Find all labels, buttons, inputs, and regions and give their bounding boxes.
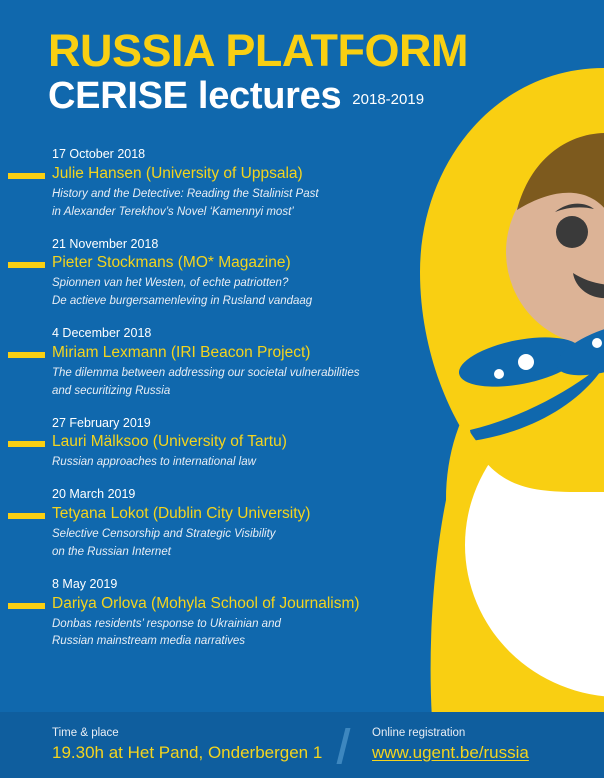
doll-face xyxy=(506,158,604,346)
poster-footer: Time & place 19.30h at Het Pand, Onderbe… xyxy=(0,712,604,778)
lecture-description-line: The dilemma between addressing our socie… xyxy=(52,365,420,383)
lecture-description-line: and securitizing Russia xyxy=(52,383,420,401)
leaf-stem xyxy=(470,360,604,441)
lecture-description-line: De actieve burgersamenleving in Rusland … xyxy=(52,293,420,311)
doll-eyebrow xyxy=(555,204,594,212)
leaf-shape xyxy=(455,329,585,396)
doll-apron xyxy=(465,393,604,697)
subtitle-row: CERISE lectures 2018-2019 xyxy=(48,77,468,115)
lecture-description: Donbas residents’ response to Ukrainian … xyxy=(52,616,420,652)
lecture-date: 8 May 2019 xyxy=(52,576,420,593)
lecture-description-line: History and the Detective: Reading the S… xyxy=(52,186,420,204)
lecture-description: History and the Detective: Reading the S… xyxy=(52,186,420,222)
lecture-speaker: Miriam Lexmann (IRI Beacon Project) xyxy=(52,342,310,364)
lecture-list: 17 October 2018 Julie Hansen (University… xyxy=(0,146,420,665)
lecture-speaker: Pieter Stockmans (MO* Magazine) xyxy=(52,252,291,274)
lecture-description: Selective Censorship and Strategic Visib… xyxy=(52,526,420,562)
dash-marker-icon xyxy=(8,262,45,268)
lecture-description-line: Donbas residents’ response to Ukrainian … xyxy=(52,616,420,634)
lecture-speaker-row: Pieter Stockmans (MO* Magazine) xyxy=(0,252,420,274)
time-place-block: Time & place 19.30h at Het Pand, Onderbe… xyxy=(52,726,322,765)
dash-marker-icon xyxy=(8,441,45,447)
lecture-description: The dilemma between addressing our socie… xyxy=(52,365,420,401)
time-place-label: Time & place xyxy=(52,726,322,741)
lecture-item: 21 November 2018 Pieter Stockmans (MO* M… xyxy=(0,236,420,312)
lecture-description-line: Selective Censorship and Strategic Visib… xyxy=(52,526,420,544)
lecture-item: 4 December 2018 Miriam Lexmann (IRI Beac… xyxy=(0,325,420,401)
dash-marker-icon xyxy=(8,352,45,358)
lecture-date: 20 March 2019 xyxy=(52,486,420,503)
doll-eye xyxy=(556,216,588,248)
divider-slash-icon xyxy=(337,728,351,764)
registration-block: Online registration www.ugent.be/russia xyxy=(372,726,529,765)
lecture-date: 27 February 2019 xyxy=(52,415,420,432)
lecture-speaker-row: Lauri Mälksoo (University of Tartu) xyxy=(0,431,420,453)
lecture-description: Russian approaches to international law xyxy=(52,454,420,472)
poster-root: RUSSIA PLATFORM CERISE lectures 2018-201… xyxy=(0,0,604,778)
registration-label: Online registration xyxy=(372,726,529,741)
lecture-item: 8 May 2019 Dariya Orlova (Mohyla School … xyxy=(0,576,420,652)
lecture-description-line: Russian approaches to international law xyxy=(52,454,420,472)
lecture-speaker: Dariya Orlova (Mohyla School of Journali… xyxy=(52,593,360,615)
time-place-value: 19.30h at Het Pand, Onderbergen 1 xyxy=(52,742,322,765)
lecture-speaker: Julie Hansen (University of Uppsala) xyxy=(52,163,303,185)
lecture-date: 4 December 2018 xyxy=(52,325,420,342)
white-dot xyxy=(494,369,504,379)
lecture-date: 21 November 2018 xyxy=(52,236,420,253)
lecture-description: Spionnen van het Westen, of echte patrio… xyxy=(52,275,420,311)
lecture-description-line: in Alexander Terekhov’s Novel ‘Kamennyi … xyxy=(52,204,420,222)
doll-body xyxy=(431,312,604,778)
lecture-speaker-row: Tetyana Lokot (Dublin City University) xyxy=(0,503,420,525)
lecture-description-line: Russian mainstream media narratives xyxy=(52,633,420,651)
doll-hair xyxy=(517,133,604,210)
lecture-speaker-row: Julie Hansen (University of Uppsala) xyxy=(0,163,420,185)
poster-header: RUSSIA PLATFORM CERISE lectures 2018-201… xyxy=(48,28,468,115)
page-subtitle: CERISE lectures xyxy=(48,77,341,115)
lecture-speaker-row: Dariya Orlova (Mohyla School of Journali… xyxy=(0,593,420,615)
page-title: RUSSIA PLATFORM xyxy=(48,28,468,73)
lecture-description-line: on the Russian Internet xyxy=(52,544,420,562)
dash-marker-icon xyxy=(8,513,45,519)
lecture-speaker: Lauri Mälksoo (University of Tartu) xyxy=(52,431,287,453)
lecture-date: 17 October 2018 xyxy=(52,146,420,163)
lecture-speaker: Tetyana Lokot (Dublin City University) xyxy=(52,503,310,525)
dash-marker-icon xyxy=(8,603,45,609)
season-years: 2018-2019 xyxy=(352,91,424,108)
lecture-item: 20 March 2019 Tetyana Lokot (Dublin City… xyxy=(0,486,420,562)
white-dot xyxy=(518,354,534,370)
lecture-item: 17 October 2018 Julie Hansen (University… xyxy=(0,146,420,222)
dash-marker-icon xyxy=(8,173,45,179)
doll-mouth xyxy=(573,273,604,298)
lecture-item: 27 February 2019 Lauri Mälksoo (Universi… xyxy=(0,415,420,473)
leaf-shape xyxy=(550,309,604,386)
doll-scarf-decoration xyxy=(455,309,604,441)
doll-headscarf xyxy=(420,68,604,492)
registration-link[interactable]: www.ugent.be/russia xyxy=(372,742,529,765)
lecture-description-line: Spionnen van het Westen, of echte patrio… xyxy=(52,275,420,293)
white-dot xyxy=(592,338,602,348)
lecture-speaker-row: Miriam Lexmann (IRI Beacon Project) xyxy=(0,342,420,364)
